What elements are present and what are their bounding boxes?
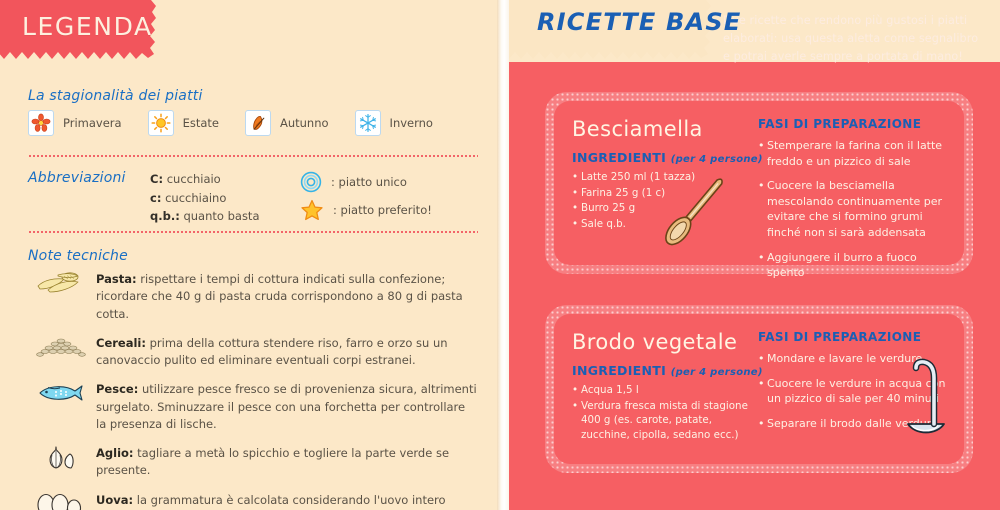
abbrev-heading: Abbreviazioni — [28, 170, 126, 186]
step-item: Mondare e lavare le verdure — [758, 351, 946, 367]
ingredient-item: Verdura fresca mista di stagione 400 g (… — [572, 399, 754, 443]
note-text-uova: Uova: la grammatura è calcolata consider… — [96, 489, 478, 510]
abbrev-key: C: — [150, 172, 163, 186]
star-icon — [300, 198, 324, 222]
abbrev-value: cucchiaino — [165, 191, 226, 205]
recipe-steps-column: FASI DI PREPARAZIONE Mondare e lavare le… — [754, 330, 946, 448]
technical-notes-list: Pasta: rispettare i tempi di cottura ind… — [34, 268, 478, 510]
steps-heading: FASI DI PREPARAZIONE — [758, 330, 946, 344]
note-body: prima della cottura stendere riso, farro… — [96, 336, 448, 367]
note-text-pasta: Pasta: rispettare i tempi di cottura ind… — [96, 268, 478, 323]
recipe-card-brodo-vegetale[interactable]: Brodo vegetale INGREDIENTI (per 4 person… — [545, 305, 973, 473]
leaf-icon — [247, 113, 268, 134]
divider-rule-2 — [28, 231, 478, 233]
ingredients-servings: (per 4 persone) — [671, 154, 763, 165]
season-item-inverno[interactable]: Inverno — [355, 110, 459, 136]
ingredients-list: Acqua 1,5 l Verdura fresca mista di stag… — [572, 383, 754, 442]
step-item: Separare il brodo dalle verdure — [758, 416, 946, 432]
season-legend-row: Primavera Estate — [28, 110, 459, 136]
ingredients-servings: (per 4 persone) — [671, 367, 763, 378]
season-item-primavera[interactable]: Primavera — [28, 110, 148, 136]
book-spread: LEGENDA La stagionalità dei piatti — [0, 0, 1000, 510]
note-item-uova: Uova: la grammatura è calcolata consider… — [34, 489, 478, 510]
season-label-autunno: Autunno — [280, 116, 329, 130]
legenda-title: LEGENDA — [22, 12, 153, 41]
abbrev-list: C: cucchiaio c: cucchiaino q.b.: quanto … — [150, 170, 260, 226]
symbol-row-piatto-unico[interactable]: : piatto unico — [300, 168, 432, 196]
flower-icon — [31, 113, 51, 133]
note-icon-wrap — [34, 442, 96, 477]
note-item-pasta: Pasta: rispettare i tempi di cottura ind… — [34, 268, 478, 323]
ingredients-heading: INGREDIENTI (per 4 persone) — [572, 363, 754, 378]
recipe-title: Brodo vegetale — [572, 330, 754, 354]
notes-heading: Note tecniche — [28, 248, 128, 264]
recipe-card-inner: Brodo vegetale INGREDIENTI (per 4 person… — [554, 314, 964, 464]
ingredients-heading-label: INGREDIENTI — [572, 363, 666, 378]
note-body: la grammatura è calcolata considerando l… — [96, 493, 446, 510]
recipe-ingredients-column: Besciamella INGREDIENTI (per 4 persone) … — [572, 117, 754, 249]
eggs-icon — [34, 491, 88, 510]
note-term: Cereali: — [96, 336, 146, 350]
ingredients-heading-label: INGREDIENTI — [572, 150, 666, 165]
abbrev-key: q.b.: — [150, 209, 180, 223]
note-icon-wrap — [34, 268, 96, 301]
season-icon-box — [245, 110, 271, 136]
ingredient-item: Sale q.b. — [572, 217, 754, 232]
note-term: Pasta: — [96, 272, 137, 286]
right-page: RICETTE BASE Due ricette che rendono più… — [509, 0, 1000, 510]
torn-paper-shape: RICETTE BASE — [509, 0, 714, 66]
pasta-icon — [34, 270, 88, 296]
note-item-aglio: Aglio: tagliare a metà lo spicchio e tog… — [34, 442, 478, 480]
note-text-cereali: Cereali: prima della cottura stendere ri… — [96, 332, 478, 370]
ingredient-item: Farina 25 g (1 c) — [572, 186, 754, 201]
season-icon-box — [28, 110, 54, 136]
ingredient-item: Acqua 1,5 l — [572, 383, 754, 398]
note-body: tagliare a metà lo spicchio e togliere l… — [96, 446, 449, 477]
concentric-circles-icon — [300, 171, 322, 193]
step-item: Aggiungere il burro a fuoco spento — [758, 250, 946, 281]
ricette-base-title: RICETTE BASE — [537, 8, 741, 36]
fish-icon — [34, 380, 88, 406]
cereals-icon — [34, 334, 88, 360]
steps-list: Mondare e lavare le verdure Cuocere le v… — [758, 351, 946, 431]
note-text-aglio: Aglio: tagliare a metà lo spicchio e tog… — [96, 442, 478, 480]
step-item: Cuocere la besciamella mescolando contin… — [758, 178, 946, 240]
recipe-steps-column: FASI DI PREPARAZIONE Stemperare la farin… — [754, 117, 946, 249]
abbrev-key: c: — [150, 191, 161, 205]
season-label-primavera: Primavera — [63, 116, 122, 130]
note-icon-wrap — [34, 332, 96, 365]
abbrev-entry: c: cucchiaino — [150, 189, 260, 208]
steps-list: Stemperare la farina con il latte freddo… — [758, 138, 946, 281]
garlic-icon — [34, 444, 88, 472]
ingredients-heading: INGREDIENTI (per 4 persone) — [572, 150, 754, 165]
recipe-ingredients-column: Brodo vegetale INGREDIENTI (per 4 person… — [572, 330, 754, 448]
step-item: Cuocere le verdure in acqua con un pizzi… — [758, 376, 946, 407]
season-item-autunno[interactable]: Autunno — [245, 110, 355, 136]
symbol-legend: : piatto unico : piatto preferito! — [300, 168, 432, 224]
ricette-base-banner: RICETTE BASE — [509, 0, 714, 66]
abbrev-entry: C: cucchiaio — [150, 170, 260, 189]
note-item-pesce: Pesce: utilizzare pesce fresco se di pro… — [34, 378, 478, 433]
sun-icon — [151, 113, 171, 133]
abbrev-value: cucchiaio — [167, 172, 221, 186]
note-body: utilizzare pesce fresco se di provenienz… — [96, 382, 477, 431]
symbol-label-piatto-preferito: : piatto preferito! — [333, 203, 432, 217]
symbol-row-piatto-preferito[interactable]: : piatto preferito! — [300, 196, 432, 224]
season-label-inverno: Inverno — [390, 116, 433, 130]
steps-heading: FASI DI PREPARAZIONE — [758, 117, 946, 131]
ingredient-item: Burro 25 g — [572, 201, 754, 216]
note-body: rispettare i tempi di cottura indicati s… — [96, 272, 463, 321]
recipe-card-inner: Besciamella INGREDIENTI (per 4 persone) … — [554, 101, 964, 265]
season-icon-box — [148, 110, 174, 136]
season-label-estate: Estate — [183, 116, 219, 130]
banner-blurb: Due ricette che rendono più gustosi i pi… — [723, 12, 983, 66]
torn-paper-shape: LEGENDA — [0, 0, 158, 68]
ingredient-item: Latte 250 ml (1 tazza) — [572, 170, 754, 185]
note-item-cereali: Cereali: prima della cottura stendere ri… — [34, 332, 478, 370]
season-icon-box — [355, 110, 381, 136]
symbol-label-piatto-unico: : piatto unico — [331, 175, 407, 189]
note-text-pesce: Pesce: utilizzare pesce fresco se di pro… — [96, 378, 478, 433]
note-term: Uova: — [96, 493, 133, 507]
page-gutter — [497, 0, 509, 510]
left-page: LEGENDA La stagionalità dei piatti — [0, 0, 497, 510]
snowflake-icon — [358, 113, 378, 133]
legenda-banner: LEGENDA — [0, 0, 158, 68]
divider-rule-1 — [28, 155, 478, 157]
ingredients-list: Latte 250 ml (1 tazza) Farina 25 g (1 c)… — [572, 170, 754, 231]
note-term: Aglio: — [96, 446, 134, 460]
season-heading: La stagionalità dei piatti — [28, 88, 203, 104]
recipe-card-besciamella[interactable]: Besciamella INGREDIENTI (per 4 persone) … — [545, 92, 973, 274]
recipe-title: Besciamella — [572, 117, 754, 141]
season-item-estate[interactable]: Estate — [148, 110, 245, 136]
step-item: Stemperare la farina con il latte freddo… — [758, 138, 946, 169]
note-icon-wrap — [34, 378, 96, 411]
note-icon-wrap — [34, 489, 96, 510]
abbrev-entry: q.b.: quanto basta — [150, 207, 260, 226]
abbrev-value: quanto basta — [183, 209, 259, 223]
note-term: Pesce: — [96, 382, 138, 396]
